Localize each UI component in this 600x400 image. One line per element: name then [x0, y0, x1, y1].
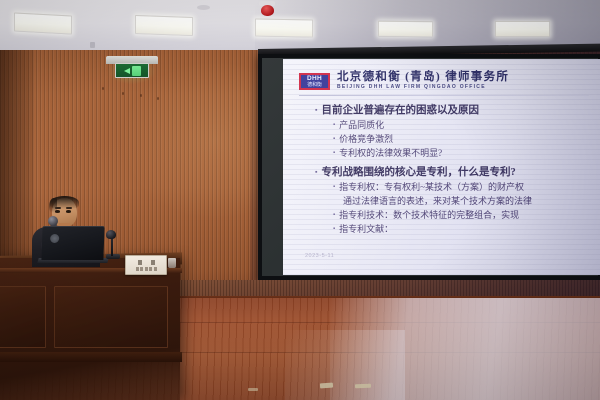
slide-bullet-continuation: 通过法律语言的表述，来对某个技术方案的法律 — [343, 194, 600, 208]
slide-bullet-list: ▪目前企业普遍存在的困惑以及原因 ▪产品同质化 ▪价格竞争激烈 ▪专利权的法律效… — [305, 103, 600, 236]
bullet-dot-icon: ▪ — [315, 103, 317, 114]
presenter-eye — [55, 210, 60, 213]
exit-sign-face — [115, 63, 149, 78]
wall-fixture-dot — [140, 94, 142, 97]
slide-date-footer: 2023-5-11 — [305, 253, 334, 259]
ceiling-light-panel — [135, 15, 193, 36]
fire-alarm-icon — [261, 5, 274, 16]
ceiling-light-panel — [495, 21, 550, 37]
podium-base-trim — [0, 352, 182, 362]
slide-bullet: ▪专利战略围绕的核心是专利，什么是专利? — [315, 165, 600, 180]
slide-bullet-text: 专利权的法律效果不明显? — [339, 146, 442, 160]
floor-debris — [355, 384, 371, 389]
slide-bullet-text: 专利战略围绕的核心是专利，什么是专利? — [321, 165, 515, 180]
emergency-exit-sign — [106, 56, 158, 82]
slide-bullet-text: 指专利权：专有权利~某技术（方案）的财产权 — [339, 180, 524, 194]
laptop-logo-icon — [50, 234, 59, 243]
slide-bullet-text: 指专利技术：数个技术特征的完整组合，实现 — [339, 208, 519, 222]
gooseneck-microphone-stem — [111, 236, 113, 256]
slide-bullet-text: 产品同质化 — [339, 118, 384, 132]
slide-bullet: ▪指专利文献： — [333, 222, 600, 236]
speaker-nameplate — [125, 255, 167, 275]
bullet-dot-icon: ▪ — [333, 118, 335, 128]
gooseneck-microphone-base — [106, 254, 120, 259]
firm-name-chinese: 北京德和衡 (青岛) 律师事务所 — [337, 71, 591, 84]
slide-bullet: ▪专利权的法律效果不明显? — [333, 146, 600, 160]
slide-bullet-text: 价格竞争激烈 — [339, 132, 393, 146]
presenter-eyebrow — [66, 207, 72, 209]
nameplate-glyph — [151, 260, 155, 265]
wall-fixture-dot — [102, 87, 104, 90]
slide-bullet-text: 目前企业普遍存在的困惑以及原因 — [321, 103, 479, 118]
bullet-dot-icon: ▪ — [333, 146, 335, 156]
laptop — [41, 226, 104, 260]
firm-name-english: BEIJING DHH LAW FIRM QINGDAO OFFICE — [337, 84, 591, 91]
bullet-dot-icon: ▪ — [333, 222, 335, 232]
slide-bullet: ▪价格竞争激烈 — [333, 132, 600, 146]
running-man-icon — [132, 66, 141, 76]
nameplate-glyph — [149, 267, 152, 271]
ceiling-light-panel — [14, 12, 72, 34]
slide-bullet: ▪指专利技术：数个技术特征的完整组合，实现 — [333, 208, 600, 222]
ceiling-light-panel — [255, 18, 313, 37]
floor-light-reflection-secondary — [285, 330, 405, 400]
nameplate-glyph — [138, 260, 142, 265]
presenter-eyebrow — [55, 207, 61, 209]
wall-fixture-dot — [122, 92, 124, 95]
ceiling-light-panel — [378, 21, 433, 37]
nameplate-title-row — [136, 267, 157, 271]
nameplate-name-row — [138, 260, 155, 265]
ceiling-vent-icon — [197, 5, 210, 10]
slide-header-divider — [299, 95, 589, 96]
slide-bullet: ▪目前企业普遍存在的困惑以及原因 — [315, 103, 600, 118]
nameplate-glyph — [140, 267, 143, 271]
slide-bullet: ▪产品同质化 — [333, 118, 600, 132]
slide-bullet: ▪指专利权：专有权利~某技术（方案）的财产权 — [333, 180, 600, 194]
ceiling-sprinkler-icon — [90, 42, 95, 48]
gooseneck-microphone-icon — [106, 230, 116, 239]
floor-debris — [320, 383, 333, 389]
wall-fixture-dot — [157, 97, 159, 100]
presentation-slide: DHH 德和衡 北京德和衡 (青岛) 律师事务所 BEIJING DHH LAW… — [283, 59, 600, 275]
floor-debris — [248, 388, 258, 391]
nameplate-glyph — [136, 267, 139, 271]
bullet-dot-icon: ▪ — [333, 180, 335, 190]
water-glass — [168, 258, 176, 268]
logo-mark-bottom: 德和衡 — [307, 82, 321, 88]
slide-header-text: 北京德和衡 (青岛) 律师事务所 BEIJING DHH LAW FIRM QI… — [337, 71, 591, 91]
lecture-hall-photo: DHH 德和衡 北京德和衡 (青岛) 律师事务所 BEIJING DHH LAW… — [0, 0, 600, 400]
arrow-left-icon — [124, 68, 130, 74]
bullet-dot-icon: ▪ — [333, 132, 335, 142]
bullet-dot-icon: ▪ — [333, 208, 335, 218]
nameplate-glyph — [145, 267, 148, 271]
logo-mark-top: DHH — [307, 75, 322, 82]
podium-front-panel — [54, 286, 168, 348]
microphone-head-icon — [48, 216, 58, 226]
bullet-dot-icon: ▪ — [315, 165, 317, 176]
slide-bullet-text: 指专利文献： — [339, 222, 393, 236]
slide-header: DHH 德和衡 北京德和衡 (青岛) 律师事务所 BEIJING DHH LAW… — [299, 69, 591, 93]
presenter-eye — [66, 210, 71, 213]
nameplate-glyph — [154, 267, 157, 271]
dhh-law-firm-logo-icon: DHH 德和衡 — [299, 73, 330, 90]
podium-front-panel — [0, 286, 46, 348]
